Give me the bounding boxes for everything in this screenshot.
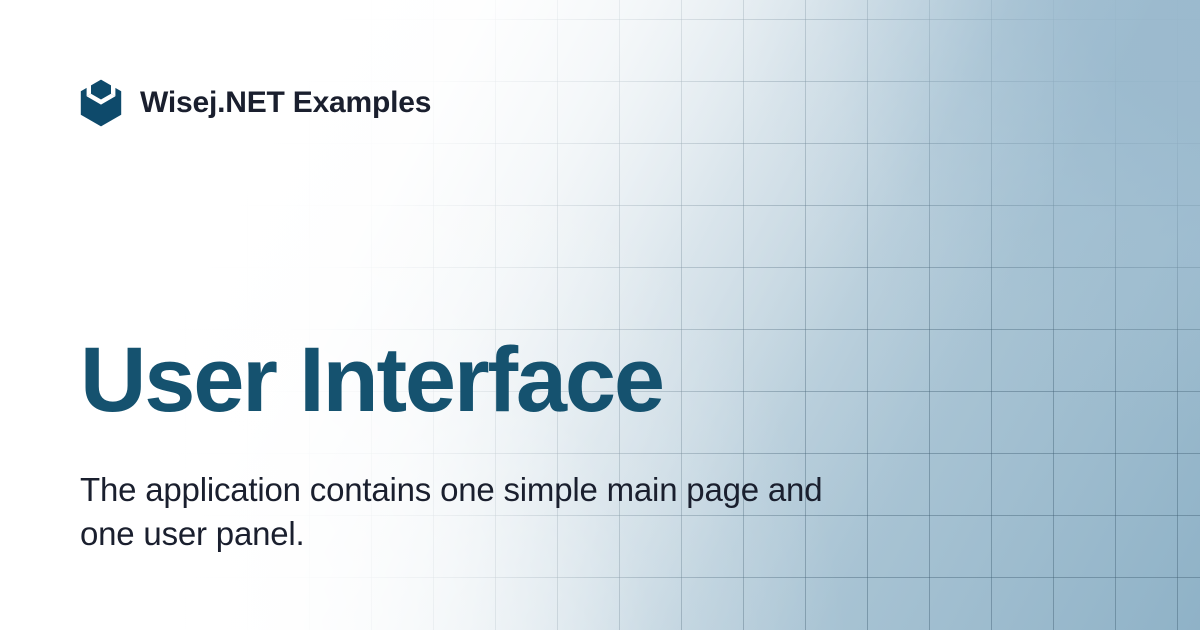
brand-name-label: Wisej.NET Examples — [140, 88, 431, 118]
brand-lockup: Wisej.NET Examples — [80, 78, 431, 128]
page-title: User Interface — [80, 334, 940, 426]
page-description: The application contains one simple main… — [80, 426, 870, 556]
wisej-hexagon-logo-icon — [80, 79, 122, 127]
banner-content: Wisej.NET Examples User Interface The ap… — [0, 0, 1200, 630]
hero-text-block: User Interface The application contains … — [80, 334, 940, 556]
og-banner-card: Wisej.NET Examples User Interface The ap… — [0, 0, 1200, 630]
